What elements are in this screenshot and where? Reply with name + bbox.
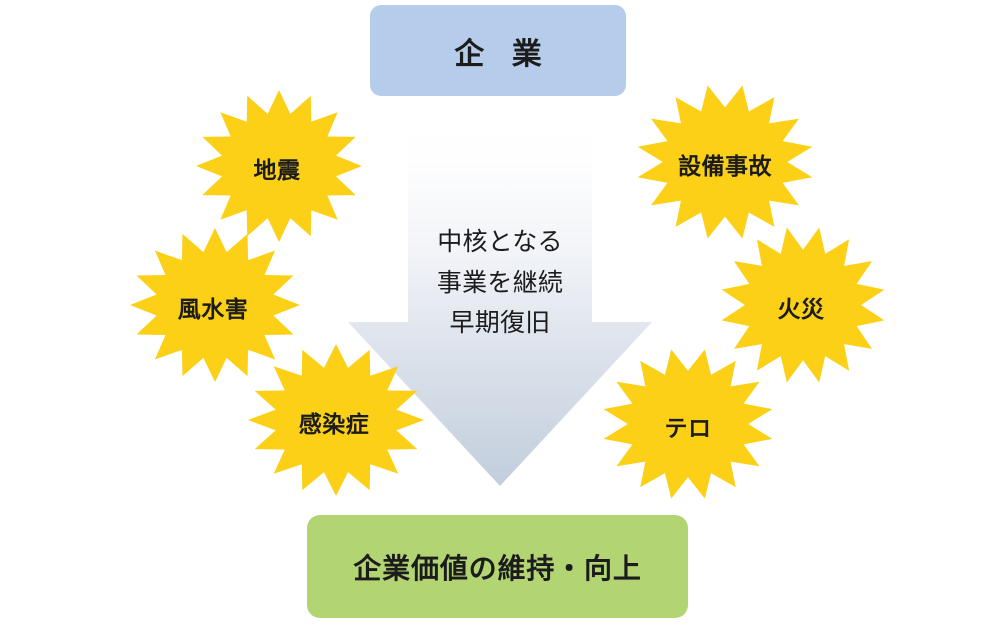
risk-label-tero: テロ <box>665 409 712 443</box>
diagram-canvas: 企 業 中核となる 事業を継続 早期復旧 地震 <box>0 0 1000 627</box>
risk-label-kansensho: 感染症 <box>299 405 369 439</box>
enterprise-box: 企 業 <box>370 5 626 96</box>
arrow-line-2: 事業を継続 <box>348 263 652 304</box>
arrow-text-block: 中核となる 事業を継続 早期復旧 <box>348 222 652 344</box>
risk-label-fusuigai: 風水害 <box>178 290 248 324</box>
arrow-line-3: 早期復旧 <box>348 303 652 344</box>
risk-starburst-jishin: 地震 <box>196 90 362 242</box>
risk-label-setsubi: 設備事故 <box>678 147 772 181</box>
risk-starburst-tero: テロ <box>602 348 774 500</box>
risk-label-kasai: 火災 <box>778 290 825 324</box>
arrow-line-1: 中核となる <box>348 222 652 263</box>
outcome-box-label: 企業価値の維持・向上 <box>353 547 641 587</box>
risk-label-jishin: 地震 <box>254 151 301 185</box>
enterprise-box-label: 企 業 <box>445 29 552 73</box>
risk-starburst-kansensho: 感染症 <box>248 344 424 496</box>
outcome-box: 企業価値の維持・向上 <box>307 515 688 618</box>
risk-starburst-setsubi: 設備事故 <box>636 84 814 240</box>
